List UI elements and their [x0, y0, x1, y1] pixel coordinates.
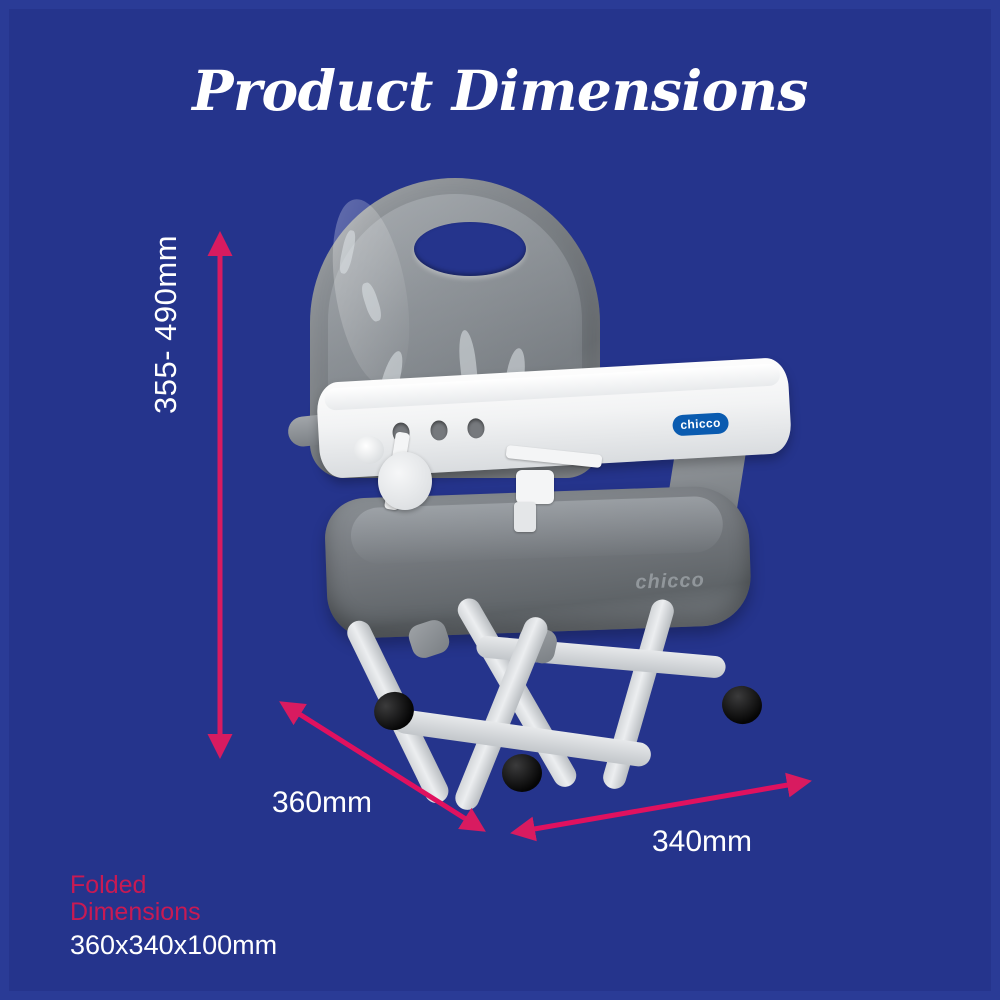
harness-crotch-strap: [514, 502, 536, 532]
folded-heading-line-2: Dimensions: [70, 899, 277, 926]
harness-buckle-strap: [516, 470, 554, 504]
side-rotary-buckle: [378, 452, 432, 510]
infographic-canvas: Product Dimensions chicco: [0, 0, 1000, 1000]
backrest-carry-handle-cutout: [414, 222, 526, 276]
depth-dimension-label: 360mm: [272, 786, 372, 820]
page-title: Product Dimensions: [0, 58, 1000, 123]
folded-dimensions-block: Folded Dimensions 360x340x100mm: [70, 872, 277, 962]
folded-heading-line-1: Folded: [70, 872, 277, 899]
tray-hole: [429, 420, 447, 441]
folded-dimensions-value: 360x340x100mm: [70, 928, 277, 962]
width-dimension-label: 340mm: [652, 825, 752, 859]
chicco-brand-logo: chicco: [672, 412, 729, 436]
tray-hole: [467, 418, 485, 439]
height-dimension-label: 355- 490mm: [148, 235, 184, 414]
product-image: chicco chicco: [270, 170, 810, 800]
brand-emboss: chicco: [635, 569, 705, 594]
frame-foot: [718, 682, 766, 729]
frame-foot: [502, 754, 542, 792]
adjustment-knob: [354, 436, 384, 464]
